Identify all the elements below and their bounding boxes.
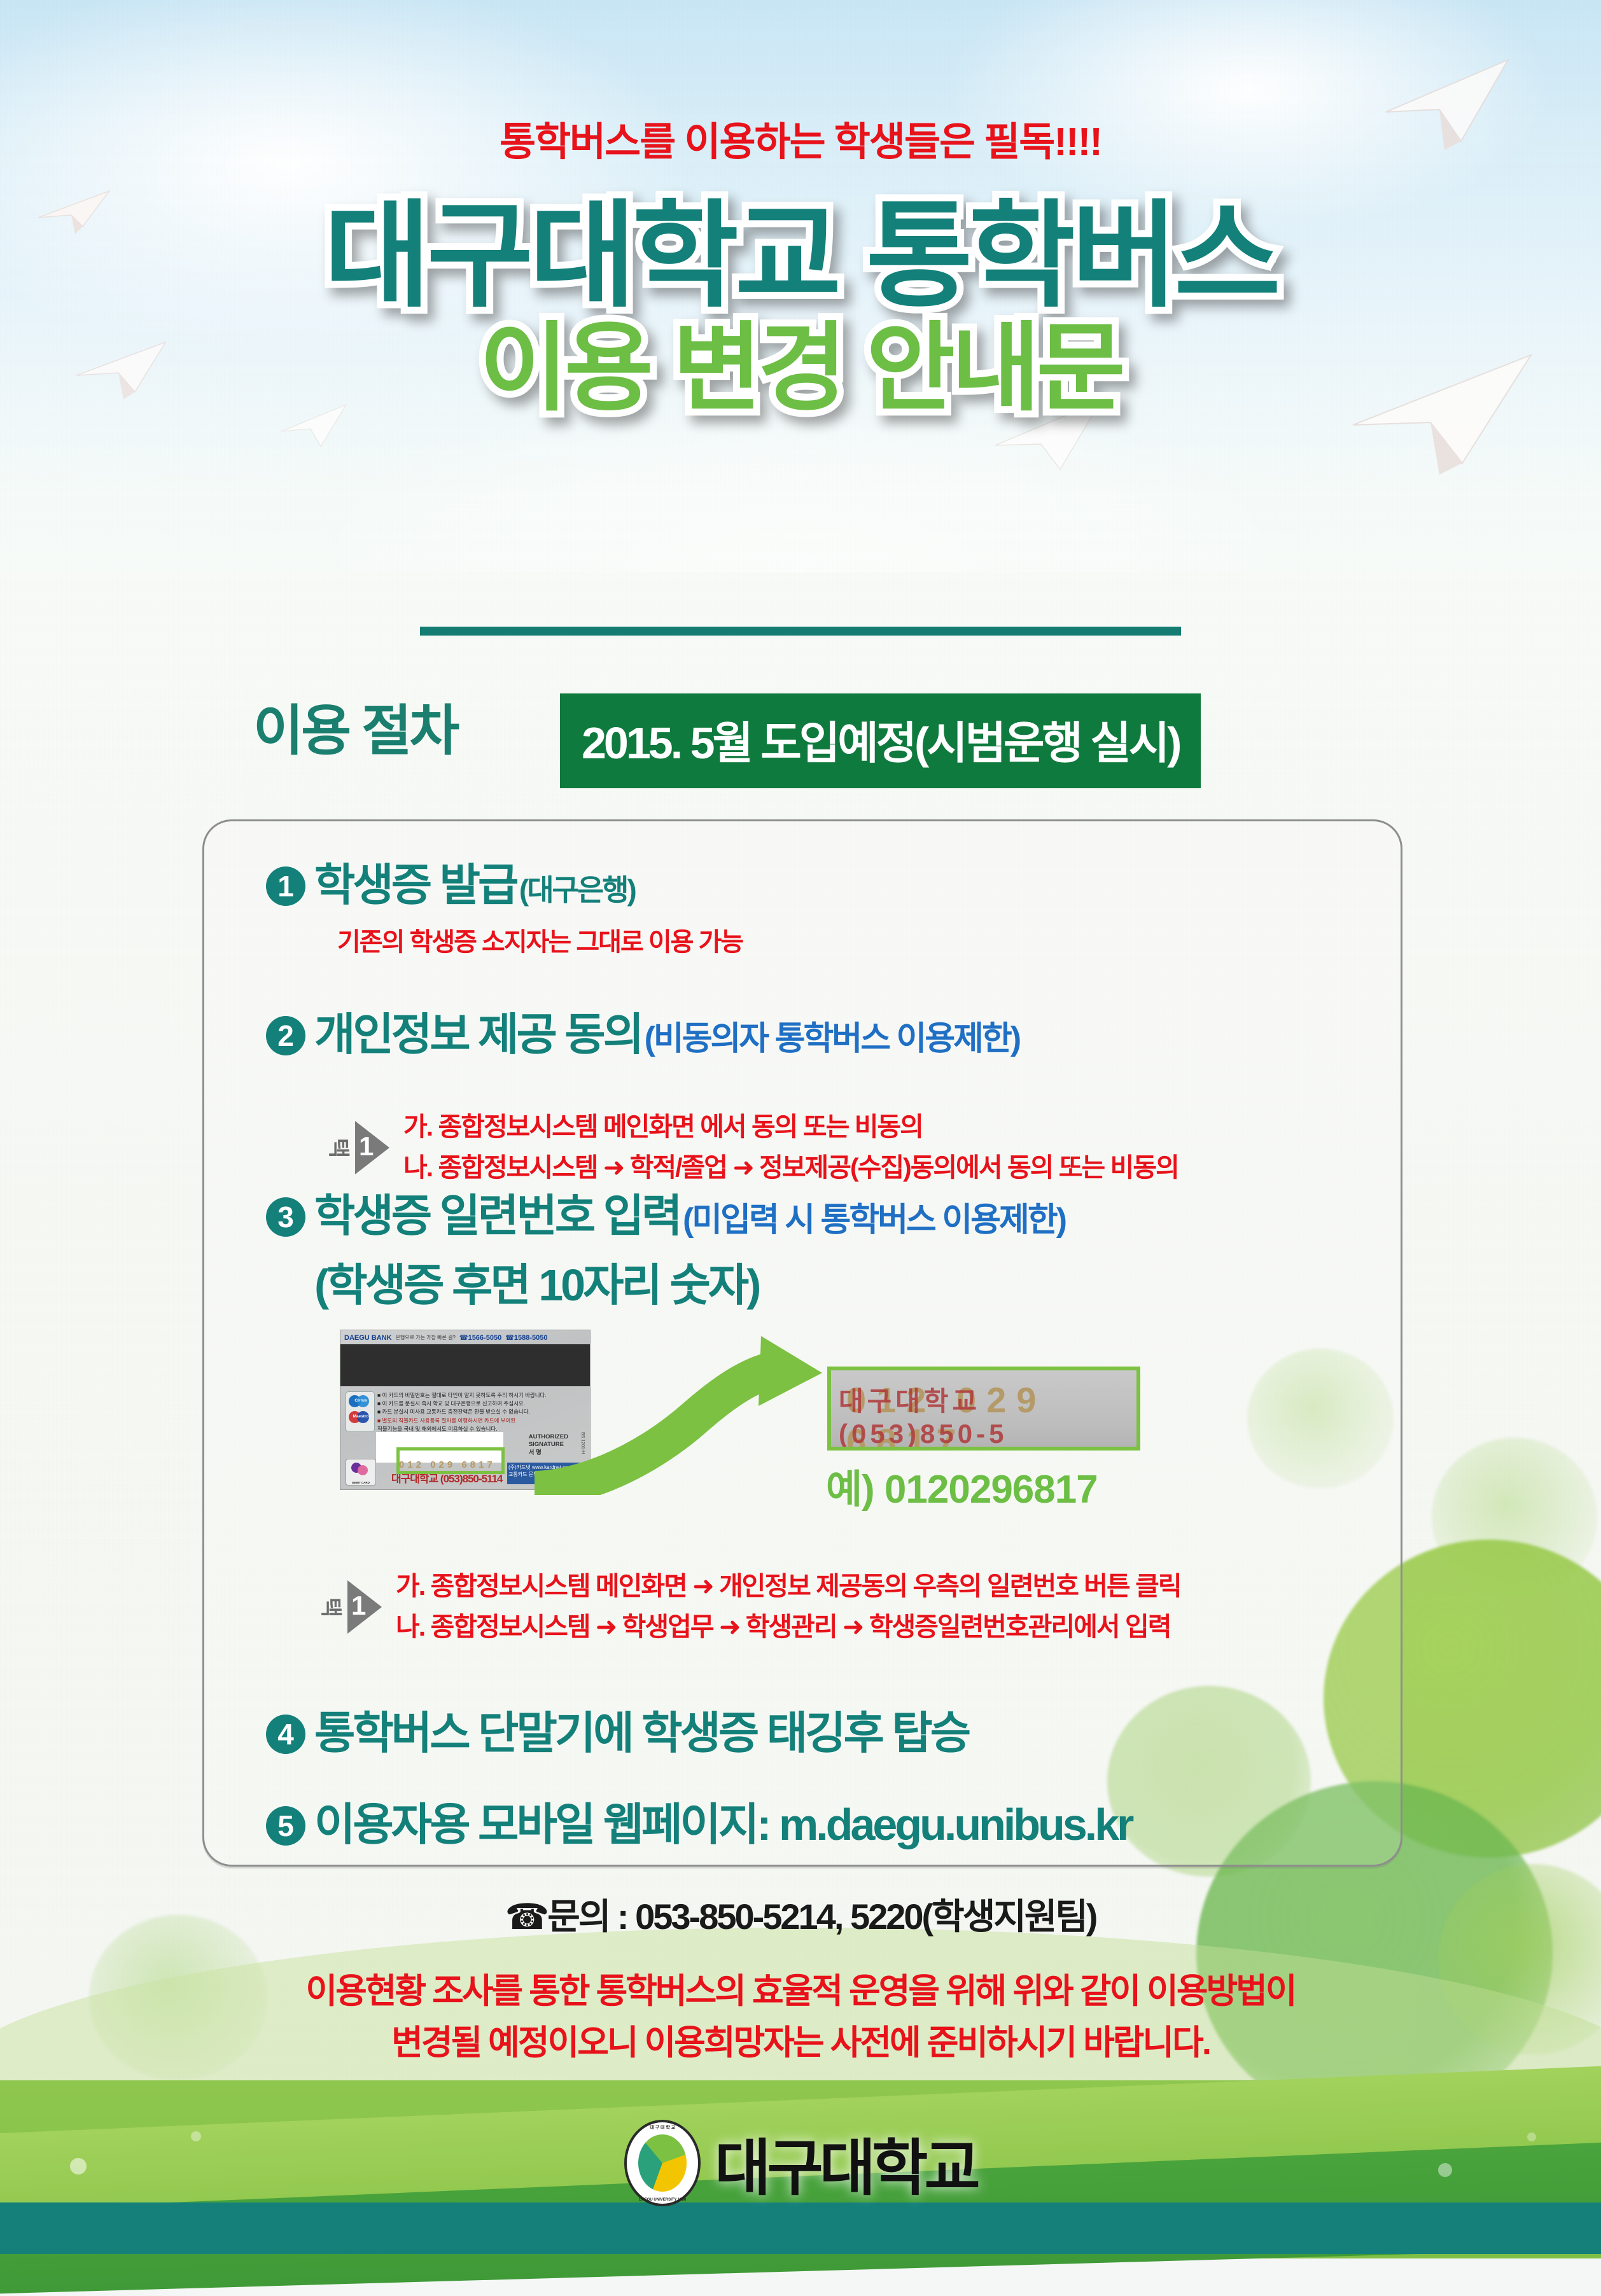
option-line: 가. 종합정보시스템 메인화면 에서 동의 또는 비동의 bbox=[403, 1107, 1178, 1148]
poster-title: 대구대학교 통학버스 이용 변경 안내문 bbox=[0, 197, 1601, 418]
title-line-2: 이용 변경 안내문 bbox=[0, 319, 1601, 418]
option-line: 나. 종합정보시스템 ➜ 학생업무 ➜ 학생관리 ➜ 학생증일련번호관리에서 입… bbox=[396, 1607, 1181, 1648]
step-1-note: 기존의 학생증 소지자는 그대로 이용 가능 bbox=[337, 921, 743, 958]
step-2-title: 개인정보 제공 동의 bbox=[314, 1010, 641, 1059]
card-brand-maestro: Maestro bbox=[348, 1414, 374, 1419]
poster-content: 통학버스를 이용하는 학생들은 필독!!!! 대구대학교 통학버스 이용 변경 … bbox=[0, 0, 1601, 2254]
step-2-pick-one: 택 1 가. 종합정보시스템 메인화면 에서 동의 또는 비동의 나. 종합정보… bbox=[326, 1107, 1178, 1188]
title-divider bbox=[420, 627, 1181, 636]
closing-line-1: 이용현황 조사를 통한 통학버스의 효율적 운영을 위해 위와 같이 이용방법이 bbox=[0, 1966, 1601, 2017]
step-2-subtitle: (비동의자 통학버스 이용제한) bbox=[645, 1020, 1020, 1057]
option-line: 가. 종합정보시스템 메인화면 ➜ 개인정보 제공동의 우측의 일련번호 버튼 … bbox=[396, 1566, 1181, 1607]
zoom-sub-line: 대구대학교 (053)850-5 bbox=[839, 1380, 1136, 1449]
procedure-label: 이용 절차 bbox=[253, 686, 457, 765]
step-5: 5이용자용 모바일 웹페이지: m.daegu.unibus.kr bbox=[266, 1789, 1131, 1853]
step-3-title-line2: (학생증 후면 10자리 숫자) bbox=[314, 1249, 1065, 1314]
card-bank-slogan: 은행으로 가는 가장 빠른 길? bbox=[396, 1334, 456, 1341]
university-name: 대구대학교 bbox=[715, 2119, 977, 2207]
seal-text-bottom: DAEGU UNIVERSITY 1956 bbox=[627, 2198, 698, 2202]
step-3-subtitle: (미입력 시 통학버스 이용제한) bbox=[683, 1202, 1065, 1239]
step-2: 2개인정보 제공 동의 (비동의자 통학버스 이용제한) bbox=[266, 999, 1019, 1063]
step-1-subtitle: (대구은행) bbox=[519, 873, 635, 907]
step-3-title: 학생증 일련번호 입력 bbox=[314, 1191, 680, 1241]
serial-highlight-box bbox=[396, 1447, 505, 1474]
card-network-logos: Cirrus Maestro bbox=[346, 1391, 375, 1432]
step-4-title: 통학버스 단말기에 학생증 태깅후 탑승 bbox=[314, 1708, 968, 1758]
pick-label: 택 bbox=[318, 1592, 349, 1622]
step-number-badge: 5 bbox=[266, 1806, 305, 1846]
procedure-banner: 2015. 5월 도입예정(시범운행 실시) bbox=[560, 693, 1201, 788]
card-brand-cirrus: Cirrus bbox=[348, 1398, 374, 1403]
step-5-title: 이용자용 모바일 웹페이지: m.daegu.unibus.kr bbox=[314, 1800, 1131, 1849]
pick-label: 택 bbox=[325, 1133, 356, 1162]
contact-line: ☎문의 : 053-850-5214, 5220(학생지원팀) bbox=[0, 1888, 1601, 1940]
step-4: 4통학버스 단말기에 학생증 태깅후 탑승 bbox=[266, 1697, 968, 1762]
step-3-options: 가. 종합정보시스템 메인화면 ➜ 개인정보 제공동의 우측의 일련번호 버튼 … bbox=[396, 1566, 1181, 1647]
university-seal-logo: 대 구 대 학 교 DAEGU UNIVERSITY 1956 bbox=[624, 2120, 701, 2206]
step-number-badge: 2 bbox=[266, 1016, 305, 1055]
kicker-headline: 통학버스를 이용하는 학생들은 필독!!!! bbox=[0, 109, 1601, 167]
pick-number: 1 bbox=[359, 1131, 374, 1162]
step-3-pick-one: 택 1 가. 종합정보시스템 메인화면 ➜ 개인정보 제공동의 우측의 일련번호… bbox=[318, 1566, 1181, 1647]
footer-brand: 대 구 대 학 교 DAEGU UNIVERSITY 1956 대구대학교 bbox=[0, 2119, 1601, 2207]
green-curved-arrow-icon bbox=[535, 1336, 834, 1498]
serial-example-text: 예) 0120296817 bbox=[826, 1457, 1098, 1514]
step-1-title: 학생증 발급 bbox=[314, 860, 516, 910]
pick-number: 1 bbox=[351, 1590, 366, 1621]
step-number-badge: 4 bbox=[266, 1715, 305, 1754]
seal-text-top: 대 구 대 학 교 bbox=[627, 2124, 698, 2131]
step-number-badge: 3 bbox=[266, 1197, 305, 1237]
step-number-badge: 1 bbox=[266, 866, 305, 906]
step-3: 3학생증 일련번호 입력 (미입력 시 통학버스 이용제한) (학생증 후면 1… bbox=[266, 1180, 1065, 1314]
card-phone-1: ☎1566-5050 bbox=[459, 1333, 501, 1342]
closing-notice: 이용현황 조사를 통한 통학버스의 효율적 운영을 위해 위와 같이 이용방법이… bbox=[0, 1966, 1601, 2069]
serial-zoom-callout: 012 029 6817 대구대학교 (053)850-5 bbox=[827, 1367, 1140, 1451]
card-bank-name: DAEGU BANK bbox=[344, 1334, 392, 1342]
pick-arrow-icon: 1 bbox=[347, 1580, 382, 1634]
card-debit-logo: DEBIT CARD bbox=[346, 1459, 376, 1485]
seal-text-ring: 대 구 대 학 교 DAEGU UNIVERSITY 1956 bbox=[627, 2122, 698, 2204]
step-1: 1학생증 발급 (대구은행) bbox=[266, 849, 635, 914]
card-debit-label: DEBIT CARD bbox=[346, 1481, 375, 1484]
title-line-1: 대구대학교 통학버스 bbox=[0, 197, 1601, 316]
pick-arrow-icon: 1 bbox=[355, 1121, 389, 1174]
step-2-options: 가. 종합정보시스템 메인화면 에서 동의 또는 비동의 나. 종합정보시스템 … bbox=[403, 1107, 1178, 1188]
closing-line-2: 변경될 예정이오니 이용희망자는 사전에 준비하시기 바랍니다. bbox=[0, 2017, 1601, 2069]
